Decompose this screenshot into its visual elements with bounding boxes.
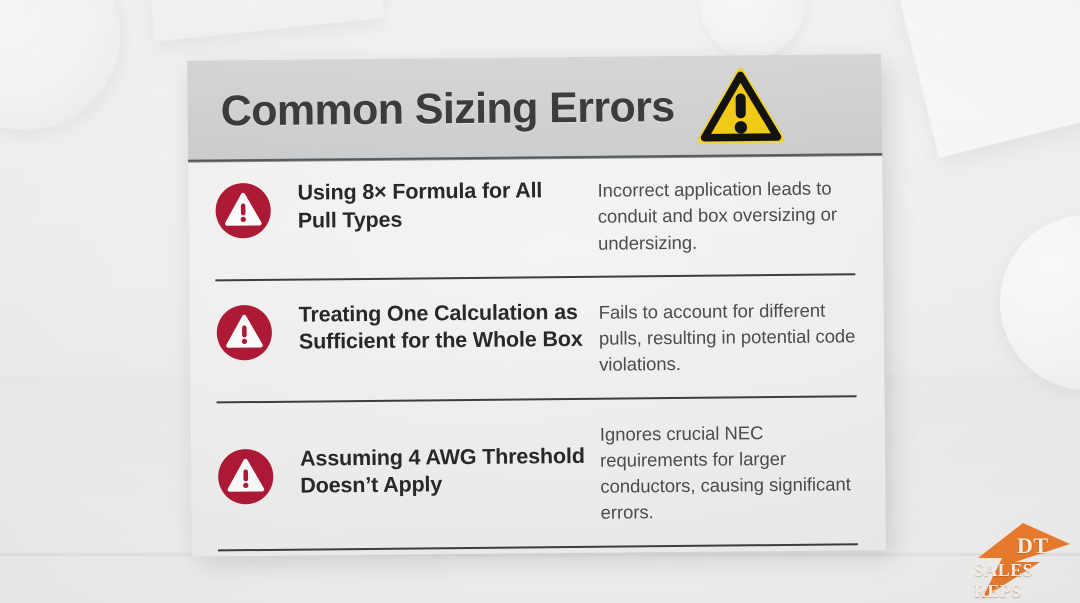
list-item-title: Treating One Calculation as Sufficient f… bbox=[299, 299, 600, 357]
background-circle-top-right bbox=[700, 0, 805, 57]
list-item-description: Fails to account for different pulls, re… bbox=[599, 296, 857, 378]
background-circle-right bbox=[1000, 215, 1080, 390]
list-item-title: Using 8× Formula for All Pull Types bbox=[297, 177, 598, 235]
watermark-line-1: DT bbox=[1017, 533, 1049, 559]
list-item: Using 8× Formula for All Pull Types Inco… bbox=[214, 156, 855, 281]
watermark-line-2: SALES REPS bbox=[974, 560, 1076, 602]
page-title: Common Sizing Errors bbox=[221, 86, 675, 133]
list-item: Treating One Calculation as Sufficient f… bbox=[215, 275, 856, 403]
background-panel-top-right bbox=[879, 0, 1080, 158]
red-warning-circle-icon bbox=[217, 447, 275, 505]
card-body: Using 8× Formula for All Pull Types Inco… bbox=[188, 156, 886, 551]
background-slab-top bbox=[146, 0, 385, 42]
card-surface: Common Sizing Errors bbox=[187, 54, 886, 557]
list-item-description: Ignores crucial NEC requirements for lar… bbox=[600, 418, 858, 527]
lightning-bolt-icon bbox=[968, 522, 1076, 600]
list-item-description: Incorrect application leads to conduit a… bbox=[597, 174, 855, 256]
warning-triangle-icon bbox=[696, 66, 785, 147]
red-warning-circle-icon bbox=[214, 182, 272, 240]
card-header: Common Sizing Errors bbox=[187, 54, 882, 163]
list-item-title: Assuming 4 AWG Threshold Doesn’t Apply bbox=[300, 420, 601, 500]
watermark-logo: DT SALES REPS bbox=[968, 522, 1076, 600]
background-circle-top-left bbox=[0, 0, 120, 130]
info-card: Common Sizing Errors bbox=[187, 54, 886, 557]
scene: Common Sizing Errors bbox=[0, 0, 1080, 603]
red-warning-circle-icon bbox=[216, 304, 274, 362]
list-item: Assuming 4 AWG Threshold Doesn’t Apply I… bbox=[217, 397, 858, 551]
